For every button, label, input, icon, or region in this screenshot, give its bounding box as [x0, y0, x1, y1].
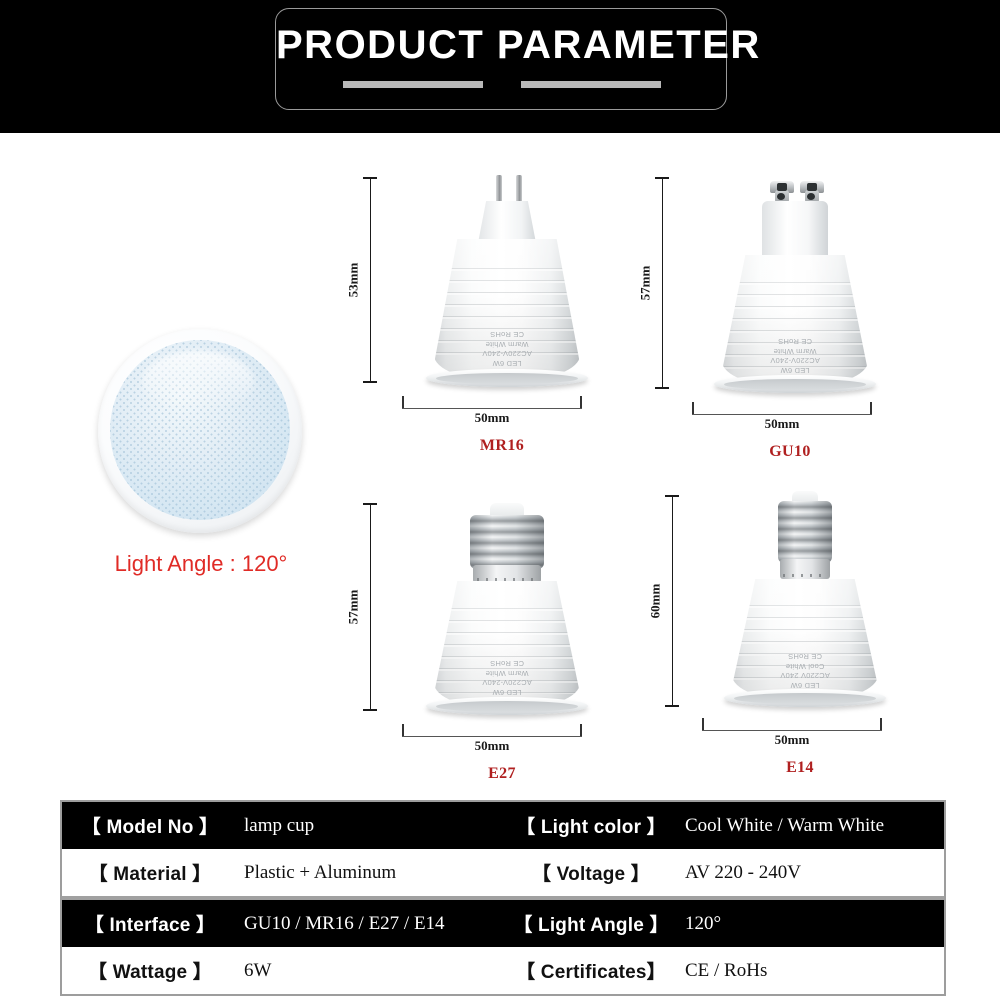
- gu10-neck: [762, 201, 828, 259]
- dimension-width-mr16: 50mm: [402, 401, 582, 415]
- print-line-cert: CE RoHS: [490, 331, 524, 340]
- spec-value-wattage: 6W: [238, 960, 503, 982]
- bulb-illustration-e27: LED 6WAC220V-240VWarm WhiteCE RoHS: [412, 485, 602, 717]
- header-title-box: PRODUCT PARAMETER: [275, 8, 727, 110]
- print-line-voltage: AC220V-240V: [482, 679, 532, 688]
- base-threads: [470, 515, 544, 569]
- spec-group-top: 【 Model No 】 lamp cup 【 Light color 】 Co…: [62, 802, 944, 896]
- diffuser-lens: [110, 340, 290, 520]
- mr16-pin-right: [516, 175, 522, 203]
- model-name-e14: E14: [650, 759, 950, 777]
- base-collar: [473, 565, 541, 583]
- pin-contact: [807, 183, 817, 191]
- dimension-width-label-e14: 50mm: [702, 732, 882, 748]
- dim-cap-left: [402, 724, 404, 736]
- mr16-neck: [478, 201, 536, 243]
- base-collar: [780, 559, 830, 579]
- e27-rim-inner: [436, 701, 578, 712]
- body-print-text: LED 6WAC220V-240VWarm WhiteCE RoHS: [722, 337, 868, 375]
- spec-value-model-no: lamp cup: [238, 815, 503, 837]
- bulb-cell-e14: LED 6WAC220V 240VCool WhiteCE RoHS 60mm …: [650, 475, 950, 775]
- dimension-width-e27: 50mm: [402, 729, 582, 743]
- dim-cap-top: [665, 495, 679, 497]
- spec-key-interface: 【 Interface 】: [62, 910, 238, 937]
- e27-rim: [426, 697, 588, 715]
- dim-cap-top: [363, 503, 377, 505]
- spec-cell-light-angle: 【 Light Angle 】 120°: [503, 900, 944, 947]
- print-line-voltage: AC220V 240V: [780, 672, 830, 681]
- body-print-text: LED 6WAC220V 240VCool WhiteCE RoHS: [732, 652, 878, 690]
- table-row: 【 Model No 】 lamp cup 【 Light color 】 Co…: [62, 802, 944, 849]
- print-line-voltage: AC220V-240V: [482, 350, 532, 359]
- print-line-cert: CE RoHS: [788, 653, 822, 662]
- spec-key-wattage: 【 Wattage 】: [62, 957, 238, 984]
- bulb-front-view: [98, 329, 302, 533]
- dimension-height-label-gu10: 57mm: [637, 266, 653, 301]
- spec-cell-wattage: 【 Wattage 】 6W: [62, 947, 503, 994]
- e14-rim: [724, 689, 886, 707]
- pin-contact-lower: [777, 193, 785, 200]
- product-diagram-stage: Light Angle : 120° LED 6WAC220V-240VWarm…: [0, 133, 1000, 800]
- bulb-cell-e27: LED 6WAC220V-240VWarm WhiteCE RoHS 57mm …: [352, 485, 652, 785]
- light-angle-label: Light Angle : 120°: [78, 551, 324, 577]
- dim-cap-right: [880, 718, 882, 730]
- dim-cap-top: [363, 177, 377, 179]
- spec-key-model-no: 【 Model No 】: [62, 812, 238, 839]
- bulb-illustration-mr16: LED 6WAC220V-240VWarm WhiteCE RoHS: [412, 171, 602, 403]
- dimension-width-gu10: 50mm: [692, 407, 872, 421]
- table-row: 【 Wattage 】 6W 【 Certificates】 CE / RoHs: [62, 947, 944, 994]
- print-line-wattage: LED 6W: [492, 359, 521, 368]
- spec-key-light-color: 【 Light color 】: [503, 812, 679, 839]
- dimension-width-label-gu10: 50mm: [692, 416, 872, 432]
- dimension-height-label-e14: 60mm: [647, 584, 663, 619]
- mr16-rim: [426, 369, 588, 387]
- dim-cap-top: [655, 177, 669, 179]
- dim-cap-bottom: [363, 709, 377, 711]
- dim-cap-left: [702, 718, 704, 730]
- dimension-width-label-e27: 50mm: [402, 738, 582, 754]
- dim-cap-right: [870, 402, 872, 414]
- dim-line: [370, 503, 371, 711]
- dim-line: [370, 177, 371, 383]
- base-threads: [778, 501, 832, 563]
- spec-table: 【 Model No 】 lamp cup 【 Light color 】 Co…: [60, 800, 946, 996]
- spec-value-light-angle: 120°: [679, 913, 944, 935]
- mr16-rim-inner: [436, 373, 578, 384]
- title-underline-left: [343, 81, 483, 88]
- print-line-color: Warm White: [486, 669, 529, 678]
- dim-cap-left: [402, 396, 404, 408]
- bulb-cell-mr16: LED 6WAC220V-240VWarm WhiteCE RoHS 53mm …: [352, 171, 652, 471]
- e14-screw-base: [778, 491, 832, 585]
- e14-body: LED 6WAC220V 240VCool WhiteCE RoHS: [732, 579, 878, 701]
- dim-cap-bottom: [665, 705, 679, 707]
- e27-body: LED 6WAC220V-240VWarm WhiteCE RoHS: [434, 581, 580, 709]
- spec-cell-model-no: 【 Model No 】 lamp cup: [62, 802, 503, 849]
- lens-highlight: [142, 351, 254, 412]
- model-name-gu10: GU10: [640, 443, 940, 461]
- spec-cell-material: 【 Material 】 Plastic + Aluminum: [62, 849, 503, 896]
- spec-group-bottom: 【 Interface 】 GU10 / MR16 / E27 / E14 【 …: [62, 900, 944, 994]
- pin-contact: [777, 183, 787, 191]
- light-angle-panel: Light Angle : 120°: [88, 329, 334, 589]
- gu10-pin-right: [800, 181, 824, 203]
- dim-cap-bottom: [363, 381, 377, 383]
- gu10-rim-inner: [724, 379, 866, 390]
- mr16-body: LED 6WAC220V-240VWarm WhiteCE RoHS: [434, 239, 580, 381]
- e14-rim-inner: [734, 693, 876, 704]
- spec-value-material: Plastic + Aluminum: [238, 862, 503, 884]
- mr16-pin-left: [496, 175, 502, 203]
- table-row: 【 Interface 】 GU10 / MR16 / E27 / E14 【 …: [62, 900, 944, 947]
- body-print-text: LED 6WAC220V-240VWarm WhiteCE RoHS: [434, 659, 580, 697]
- spec-value-voltage: AV 220 - 240V: [679, 862, 944, 884]
- print-line-cert: CE RoHS: [778, 338, 812, 347]
- spec-value-certificates: CE / RoHs: [679, 960, 944, 982]
- gu10-pin-left: [770, 181, 794, 203]
- print-line-color: Warm White: [774, 347, 817, 356]
- table-row: 【 Material 】 Plastic + Aluminum 【 Voltag…: [62, 849, 944, 896]
- dimension-height-label-mr16: 53mm: [345, 263, 361, 298]
- spec-key-light-angle: 【 Light Angle 】: [503, 910, 679, 937]
- gu10-rim: [714, 375, 876, 393]
- spec-cell-voltage: 【 Voltage 】 AV 220 - 240V: [503, 849, 944, 896]
- dimension-width-label-mr16: 50mm: [402, 410, 582, 426]
- bulb-cell-gu10: LED 6WAC220V-240VWarm WhiteCE RoHS 57mm …: [640, 163, 940, 463]
- print-line-color: Warm White: [486, 340, 529, 349]
- dim-cap-right: [580, 396, 582, 408]
- dim-line: [662, 177, 663, 389]
- e27-screw-base: [470, 503, 544, 585]
- model-name-mr16: MR16: [352, 437, 652, 455]
- model-name-e27: E27: [352, 765, 652, 783]
- print-line-wattage: LED 6W: [780, 366, 809, 375]
- body-print-text: LED 6WAC220V-240VWarm WhiteCE RoHS: [434, 330, 580, 368]
- bulb-illustration-e14: LED 6WAC220V 240VCool WhiteCE RoHS: [710, 475, 900, 707]
- spec-key-material: 【 Material 】: [62, 859, 238, 886]
- dim-line: [672, 495, 673, 707]
- spec-cell-interface: 【 Interface 】 GU10 / MR16 / E27 / E14: [62, 900, 503, 947]
- dimension-width-e14: 50mm: [702, 723, 882, 737]
- spec-key-certificates: 【 Certificates】: [503, 957, 679, 984]
- spec-key-voltage: 【 Voltage 】: [503, 859, 679, 886]
- dim-cap-right: [580, 724, 582, 736]
- gu10-body: LED 6WAC220V-240VWarm WhiteCE RoHS: [722, 255, 868, 387]
- dimension-height-label-e27: 57mm: [345, 590, 361, 625]
- title-underline-right: [521, 81, 661, 88]
- pin-contact-lower: [807, 193, 815, 200]
- spec-value-light-color: Cool White / Warm White: [679, 815, 944, 837]
- spec-value-interface: GU10 / MR16 / E27 / E14: [238, 913, 503, 935]
- print-line-voltage: AC220V-240V: [770, 357, 820, 366]
- title-underline-group: [276, 81, 728, 88]
- print-line-color: Cool White: [786, 662, 825, 671]
- print-line-cert: CE RoHS: [490, 660, 524, 669]
- dim-cap-left: [692, 402, 694, 414]
- spec-cell-light-color: 【 Light color 】 Cool White / Warm White: [503, 802, 944, 849]
- spec-cell-certificates: 【 Certificates】 CE / RoHs: [503, 947, 944, 994]
- dim-cap-bottom: [655, 387, 669, 389]
- bulb-illustration-gu10: LED 6WAC220V-240VWarm WhiteCE RoHS: [700, 163, 890, 395]
- page-title: PRODUCT PARAMETER: [276, 23, 728, 67]
- header-banner: PRODUCT PARAMETER: [0, 0, 1000, 133]
